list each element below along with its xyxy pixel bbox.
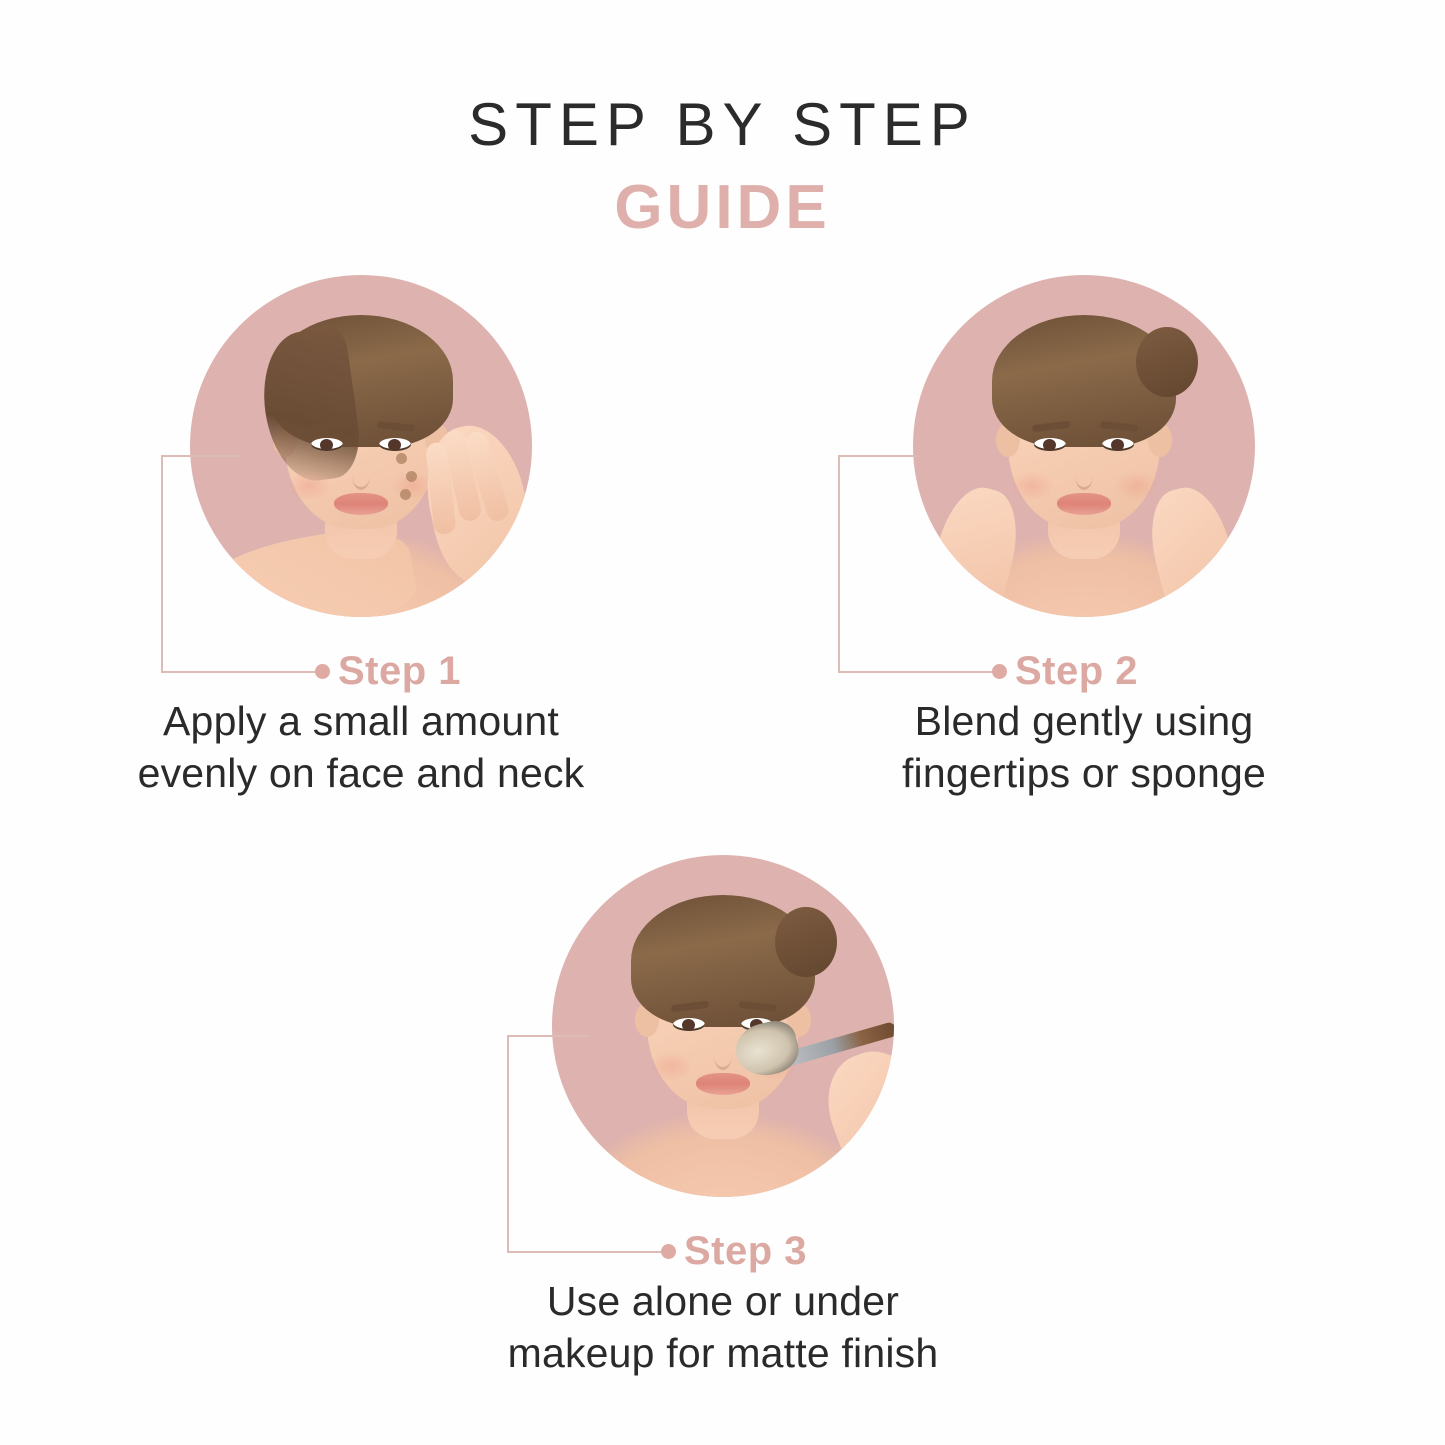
lips-shape (696, 1073, 750, 1095)
bracket-dot (661, 1244, 676, 1259)
step-1-photo (190, 275, 532, 617)
cheek-left-blush (287, 471, 331, 501)
eye-left-shape (311, 438, 343, 451)
title-line-primary: STEP BY STEP (0, 95, 1445, 155)
step-1-label: Step 1 (338, 651, 461, 691)
step-3-caption-line-2: makeup for matte finish (362, 1327, 1084, 1379)
eye-left-shape (673, 1018, 705, 1031)
title-line-accent: GUIDE (0, 177, 1445, 239)
portrait-illustration-1 (190, 275, 532, 617)
step-3-caption-line-1: Use alone or under (362, 1275, 1084, 1327)
bracket-top-line (507, 1035, 587, 1037)
step-2-caption-line-1: Blend gently using (723, 695, 1445, 747)
pupil-right (388, 439, 401, 451)
portrait-illustration-2 (913, 275, 1255, 617)
step-2-photo (913, 275, 1255, 617)
bracket-left-line (161, 455, 163, 671)
hair-bun-shape (1136, 327, 1198, 397)
step-3-caption: Use alone or under makeup for matte fini… (362, 1275, 1084, 1380)
eye-right-shape (1102, 438, 1134, 451)
bracket-dot (992, 664, 1007, 679)
eye-left-shape (1034, 438, 1066, 451)
bracket-bottom-line (838, 671, 996, 673)
portrait-illustration-3 (552, 855, 894, 1197)
bracket-left-line (507, 1035, 509, 1251)
lips-shape (1057, 493, 1111, 515)
step-1-caption-line-2: evenly on face and neck (0, 747, 722, 799)
step-3-label: Step 3 (684, 1231, 807, 1271)
bracket-left-line (838, 455, 840, 671)
cheek-right-blush (1114, 471, 1158, 501)
nose-shape (714, 1041, 732, 1070)
bracket-bottom-line (161, 671, 319, 673)
lips-shape (334, 493, 388, 515)
cheek-left-blush (649, 1051, 693, 1081)
foundation-dot (406, 471, 417, 482)
step-1-caption: Apply a small amount evenly on face and … (0, 695, 722, 800)
step-2-caption: Blend gently using fingertips or sponge (723, 695, 1445, 800)
nose-shape (352, 461, 370, 490)
nose-shape (1075, 461, 1093, 490)
bracket-dot (315, 664, 330, 679)
pupil-right (1111, 439, 1124, 451)
step-2-label: Step 2 (1015, 651, 1138, 691)
step-3-photo (552, 855, 894, 1197)
pupil-left (1043, 439, 1056, 451)
bracket-top-line (838, 455, 918, 457)
bracket-top-line (161, 455, 241, 457)
pupil-left (682, 1019, 695, 1031)
cheek-left-blush (1010, 471, 1054, 501)
step-2-caption-line-2: fingertips or sponge (723, 747, 1445, 799)
foundation-dot (400, 489, 411, 500)
bracket-bottom-line (507, 1251, 665, 1253)
infographic-canvas: STEP BY STEP GUIDE (0, 0, 1445, 1445)
foundation-dot (396, 453, 407, 464)
eye-right-shape (379, 438, 411, 451)
hair-bun-shape (775, 907, 837, 977)
page-title: STEP BY STEP GUIDE (0, 95, 1445, 239)
step-1-caption-line-1: Apply a small amount (0, 695, 722, 747)
pupil-left (320, 439, 333, 451)
